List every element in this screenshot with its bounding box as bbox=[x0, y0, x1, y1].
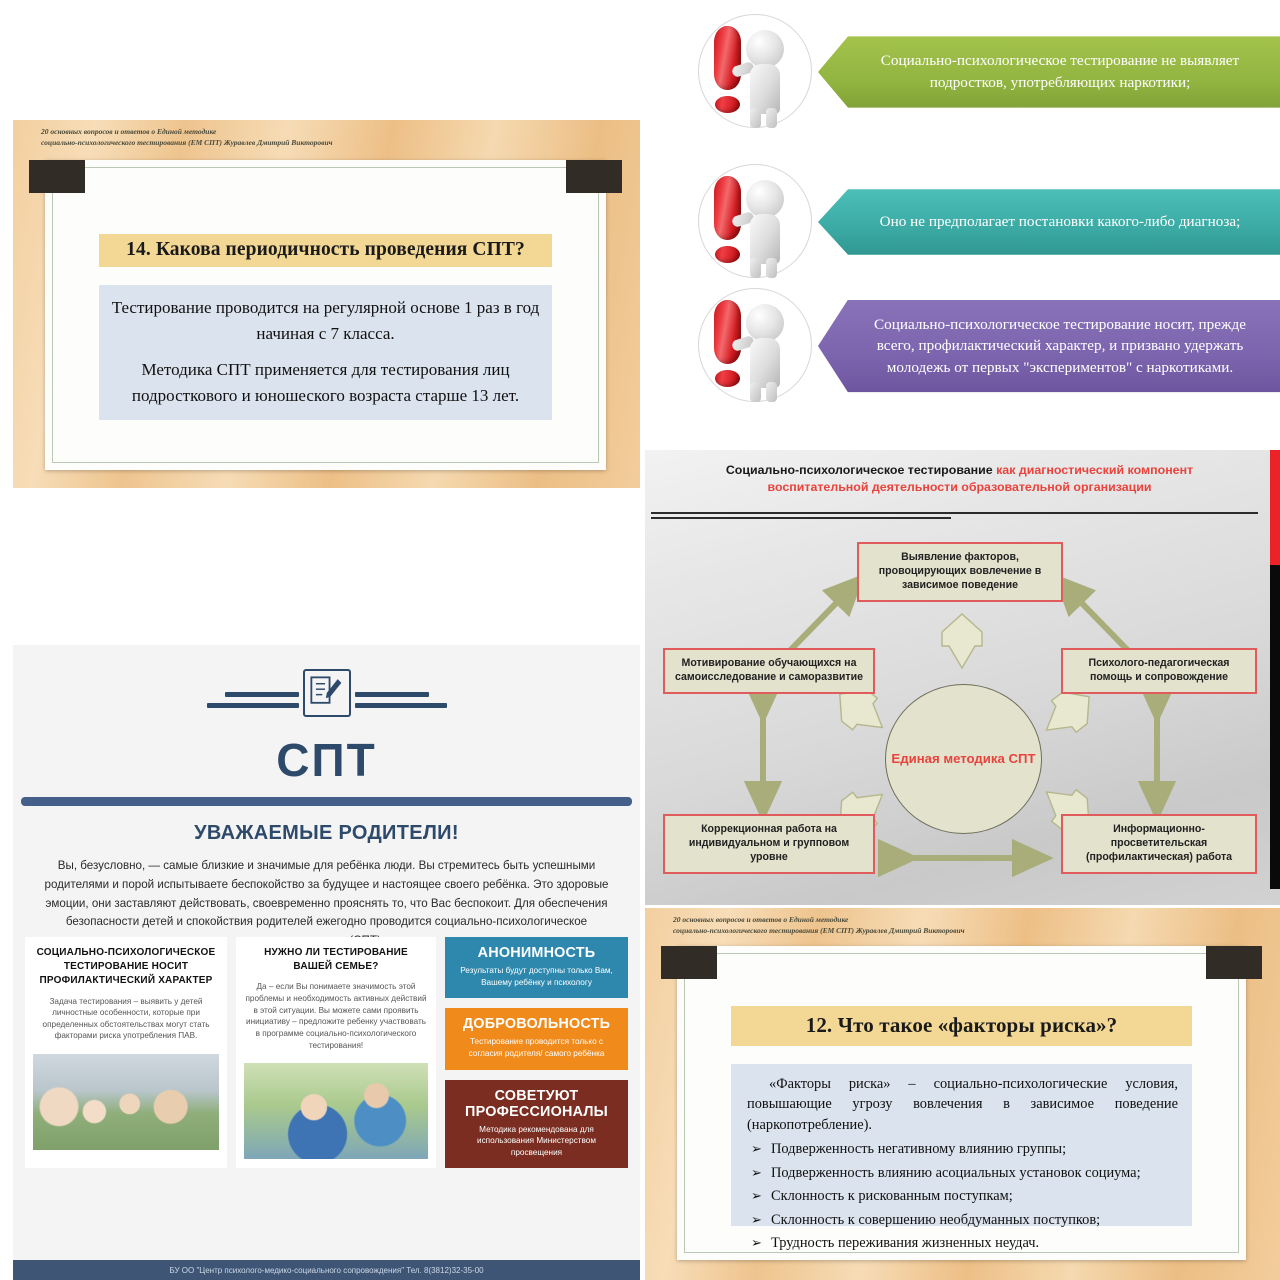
diagram-box-top: Выявление факторов, провоцирующих вовлеч… bbox=[857, 542, 1063, 602]
note-with-pencil-icon bbox=[303, 669, 351, 717]
callout-text-2: Оно не предполагает постановки какого-ли… bbox=[818, 189, 1280, 255]
list-item: ➢Склонность к рискованным поступкам; bbox=[747, 1186, 1178, 1206]
brochure-title: СПТ bbox=[13, 733, 640, 787]
slide-14-header-line-1: 20 основных вопросов и ответов о Единой … bbox=[41, 127, 630, 138]
slide-12-header-line-2: социально-психологического тестирования … bbox=[673, 926, 1270, 937]
callout-text-3: Социально-психологическое тестирование н… bbox=[818, 300, 1280, 393]
list-item: ➢Трудность переживания жизненных неудач. bbox=[747, 1233, 1178, 1253]
list-item: ➢Подверженность негативному влиянию груп… bbox=[747, 1139, 1178, 1159]
slide-14-clip-left bbox=[29, 160, 85, 193]
parent-brochure-panel: СПТ УВАЖАЕМЫЕ РОДИТЕЛИ! Вы, безусловно, … bbox=[13, 645, 640, 1280]
diagram-box-bottom-right: Информационно-просветительская (профилак… bbox=[1061, 814, 1257, 874]
slide-12-definition: «Факторы риска» – социально-психологичес… bbox=[747, 1074, 1178, 1135]
slide-12-risk-factors: 20 основных вопросов и ответов о Единой … bbox=[645, 908, 1280, 1280]
brochure-block-professionals-title: СОВЕТУЮТ ПРОФЕССИОНАЛЫ bbox=[452, 1088, 621, 1120]
brochure-block-anonymity-text: Результаты будут доступны только Вам, Ва… bbox=[452, 965, 621, 988]
diagram-black-accent-bar bbox=[1270, 565, 1280, 889]
diagram-rule-upper bbox=[651, 512, 1258, 514]
brochure-block-professionals-text: Методика рекомендована для использования… bbox=[452, 1124, 621, 1159]
diagram-title-red-2: воспитательной деятельности образователь… bbox=[768, 480, 1152, 494]
slide-12-question-title: 12. Что такое «факторы риска»? bbox=[731, 1006, 1192, 1046]
slide-14-question-title: 14. Какова периодичность проведения СПТ? bbox=[99, 234, 552, 267]
slide-12-clip-right bbox=[1206, 946, 1262, 979]
diagram-title: Социально-психологическое тестирование к… bbox=[679, 462, 1240, 495]
brochure-subtitle: УВАЖАЕМЫЕ РОДИТЕЛИ! bbox=[13, 822, 640, 845]
callout-item-3: Социально-психологическое тестирование н… bbox=[690, 282, 1280, 410]
slide-12-bullet-2: Подверженность влиянию асоциальных устан… bbox=[771, 1165, 1141, 1181]
brochure-block-voluntary-title: ДОБРОВОЛЬНОСТЬ bbox=[452, 1016, 621, 1032]
arrow-bullet-icon: ➢ bbox=[751, 1164, 762, 1182]
slide-12-header: 20 основных вопросов и ответов о Единой … bbox=[655, 915, 1270, 937]
exclamation-mark-icon bbox=[690, 8, 818, 136]
callouts-panel: Социально-психологическое тестирование н… bbox=[690, 0, 1280, 440]
slide-12-answer-body: «Факторы риска» – социально-психологичес… bbox=[731, 1064, 1192, 1226]
slide-12-content-frame: 12. Что такое «факторы риска»? «Факторы … bbox=[677, 946, 1246, 1260]
slide-12-bullet-list: ➢Подверженность негативному влиянию груп… bbox=[747, 1139, 1178, 1253]
arrow-bullet-icon: ➢ bbox=[751, 1140, 762, 1158]
brochure-block-anonymity: АНОНИМНОСТЬ Результаты будут доступны то… bbox=[445, 937, 628, 998]
slide-12-bullet-3: Склонность к рискованным поступкам; bbox=[771, 1188, 1013, 1204]
diagram-red-accent-bar bbox=[1270, 450, 1280, 565]
slide-12-clip-left bbox=[661, 946, 717, 979]
brochure-card-2-text: Да – если Вы понимаете значимость этой п… bbox=[244, 981, 428, 1051]
arrow-bullet-icon: ➢ bbox=[751, 1234, 762, 1252]
brochure-columns: СОЦИАЛЬНО-ПСИХОЛОГИЧЕСКОЕ ТЕСТИРОВАНИЕ Н… bbox=[25, 937, 628, 1168]
slide-14-clip-right bbox=[566, 160, 622, 193]
slide-14-content-frame: 14. Какова периодичность проведения СПТ?… bbox=[45, 160, 606, 470]
list-item: ➢Подверженность влиянию асоциальных уста… bbox=[747, 1163, 1178, 1183]
family-photo bbox=[33, 1054, 219, 1150]
brochure-block-voluntary-text: Тестирование проводится только с согласи… bbox=[452, 1036, 621, 1059]
diagram-title-red-1: как диагностический компонент bbox=[996, 463, 1193, 477]
slide-14-answer-body: Тестирование проводится на регулярной ос… bbox=[99, 285, 552, 420]
brochure-divider-bar bbox=[21, 797, 632, 806]
slide-12-bullet-4: Склонность к совершению необдуманных пос… bbox=[771, 1212, 1100, 1228]
slide-12-header-line-1: 20 основных вопросов и ответов о Единой … bbox=[673, 915, 1270, 926]
arrow-bullet-icon: ➢ bbox=[751, 1211, 762, 1229]
exclamation-mark-icon bbox=[690, 158, 818, 286]
diagram-box-right: Психолого-педагогическая помощь и сопров… bbox=[1061, 648, 1257, 694]
brochure-block-anonymity-title: АНОНИМНОСТЬ bbox=[452, 945, 621, 961]
slide-14-header-line-2: социально-психологического тестирования … bbox=[41, 138, 630, 149]
slide-14-header: 20 основных вопросов и ответов о Единой … bbox=[23, 127, 630, 149]
brochure-card-1-title: СОЦИАЛЬНО-ПСИХОЛОГИЧЕСКОЕ ТЕСТИРОВАНИЕ Н… bbox=[33, 946, 219, 989]
diagram-box-left: Мотивирование обучающихся на самоисследо… bbox=[663, 648, 875, 694]
parent-and-teen-photo bbox=[244, 1063, 428, 1159]
callout-item-2: Оно не предполагает постановки какого-ли… bbox=[690, 158, 1280, 286]
brochure-footer: БУ ОО "Центр психолого-медико-социальног… bbox=[13, 1260, 640, 1280]
brochure-logo bbox=[13, 645, 640, 741]
slide-14-answer-paragraph-2: Методика СПТ применяется для тестировани… bbox=[107, 357, 544, 408]
brochure-principle-blocks: АНОНИМНОСТЬ Результаты будут доступны то… bbox=[445, 937, 628, 1168]
diagram-center-circle: Единая методика СПТ bbox=[885, 684, 1042, 834]
arrow-bullet-icon: ➢ bbox=[751, 1187, 762, 1205]
list-item: ➢Склонность к совершению необдуманных по… bbox=[747, 1210, 1178, 1230]
exclamation-mark-icon bbox=[690, 282, 818, 410]
slide-14-answer-paragraph-1: Тестирование проводится на регулярной ос… bbox=[107, 295, 544, 346]
brochure-block-professionals: СОВЕТУЮТ ПРОФЕССИОНАЛЫ Методика рекоменд… bbox=[445, 1080, 628, 1169]
diagram-panel: Социально-психологическое тестирование к… bbox=[645, 450, 1280, 905]
callout-text-1: Социально-психологическое тестирование н… bbox=[818, 36, 1280, 107]
slide-12-bullet-5: Трудность переживания жизненных неудач. bbox=[771, 1235, 1039, 1251]
diagram-rule-lower bbox=[651, 517, 951, 519]
diagram-box-bottom-left: Коррекционная работа на индивидуальном и… bbox=[663, 814, 875, 874]
slide-14-periodicity: 20 основных вопросов и ответов о Единой … bbox=[13, 120, 640, 488]
callout-item-1: Социально-психологическое тестирование н… bbox=[690, 8, 1280, 136]
brochure-card-preventive: СОЦИАЛЬНО-ПСИХОЛОГИЧЕСКОЕ ТЕСТИРОВАНИЕ Н… bbox=[25, 937, 227, 1168]
brochure-card-1-text: Задача тестирования – выявить у детей ли… bbox=[33, 996, 219, 1043]
slide-12-bullet-1: Подверженность негативному влиянию групп… bbox=[771, 1141, 1066, 1157]
brochure-block-voluntary: ДОБРОВОЛЬНОСТЬ Тестирование проводится т… bbox=[445, 1008, 628, 1069]
brochure-card-2-title: НУЖНО ЛИ ТЕСТИРОВАНИЕ ВАШЕЙ СЕМЬЕ? bbox=[244, 946, 428, 974]
brochure-card-need-testing: НУЖНО ЛИ ТЕСТИРОВАНИЕ ВАШЕЙ СЕМЬЕ? Да – … bbox=[236, 937, 436, 1168]
diagram-title-black: Социально-психологическое тестирование bbox=[726, 463, 996, 477]
